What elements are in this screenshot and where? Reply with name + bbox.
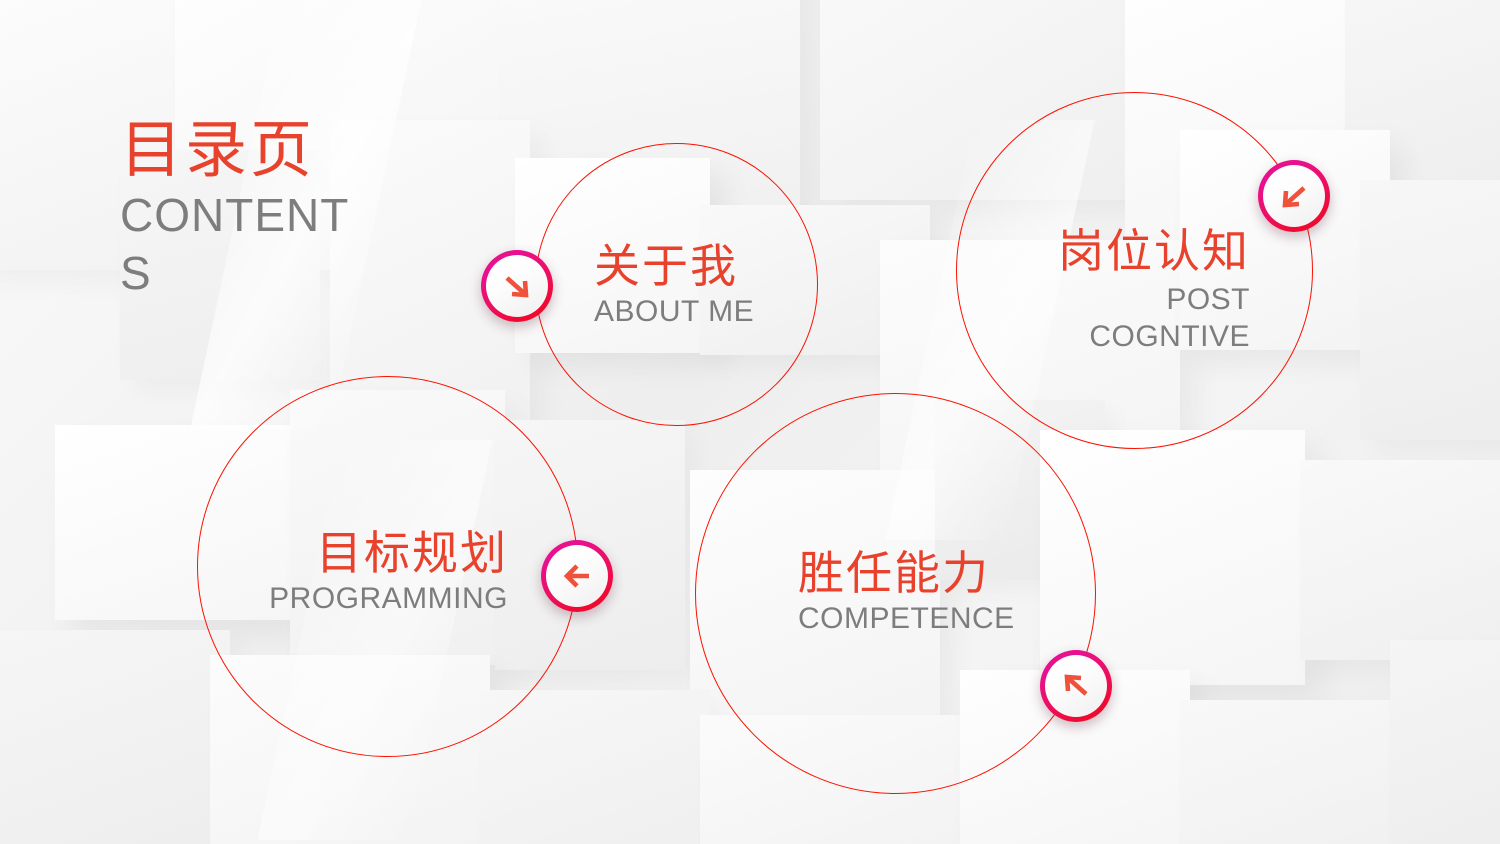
entry-post-cognitive[interactable]: 岗位认知 POST COGNTIVE xyxy=(1000,228,1250,355)
entry-programming-en: PROGRAMMING xyxy=(248,584,508,614)
badge-inner xyxy=(546,545,608,607)
bg-square xyxy=(1390,640,1500,844)
bg-square xyxy=(1360,180,1500,440)
bg-square xyxy=(0,630,230,844)
badge-competence[interactable] xyxy=(1040,650,1112,722)
arrow-down-left-icon xyxy=(1277,179,1311,213)
page-title-cn: 目录页 xyxy=(120,118,370,183)
slide-canvas: 目录页 CONTENTS 关于我 ABOUT ME 岗位认知 POST COGN… xyxy=(0,0,1500,844)
entry-competence[interactable]: 胜任能力 COMPETENCE xyxy=(798,550,1015,634)
page-title: 目录页 CONTENTS xyxy=(120,118,370,302)
arrow-up-left-icon xyxy=(1059,669,1093,703)
entry-about-me[interactable]: 关于我 ABOUT ME xyxy=(594,243,754,327)
bg-square xyxy=(1180,700,1420,844)
bg-square xyxy=(1300,460,1500,660)
bg-square xyxy=(480,690,710,844)
arrow-left-icon xyxy=(559,559,595,593)
entry-competence-en: COMPETENCE xyxy=(798,604,1015,634)
arrow-down-right-icon xyxy=(500,269,534,303)
entry-post-cognitive-cn: 岗位认知 xyxy=(1000,228,1250,274)
badge-inner xyxy=(1045,655,1107,717)
page-title-en: CONTENTS xyxy=(120,187,370,302)
entry-programming[interactable]: 目标规划 PROGRAMMING xyxy=(248,530,508,614)
badge-inner xyxy=(1263,165,1325,227)
entry-programming-cn: 目标规划 xyxy=(248,530,508,576)
badge-about-me[interactable] xyxy=(481,250,553,322)
entry-about-me-cn: 关于我 xyxy=(594,243,754,289)
entry-competence-cn: 胜任能力 xyxy=(798,550,1015,596)
entry-about-me-en: ABOUT ME xyxy=(594,297,754,327)
badge-post-cognitive[interactable] xyxy=(1258,160,1330,232)
badge-programming[interactable] xyxy=(541,540,613,612)
entry-post-cognitive-en: POST COGNTIVE xyxy=(1000,282,1250,355)
badge-inner xyxy=(486,255,548,317)
